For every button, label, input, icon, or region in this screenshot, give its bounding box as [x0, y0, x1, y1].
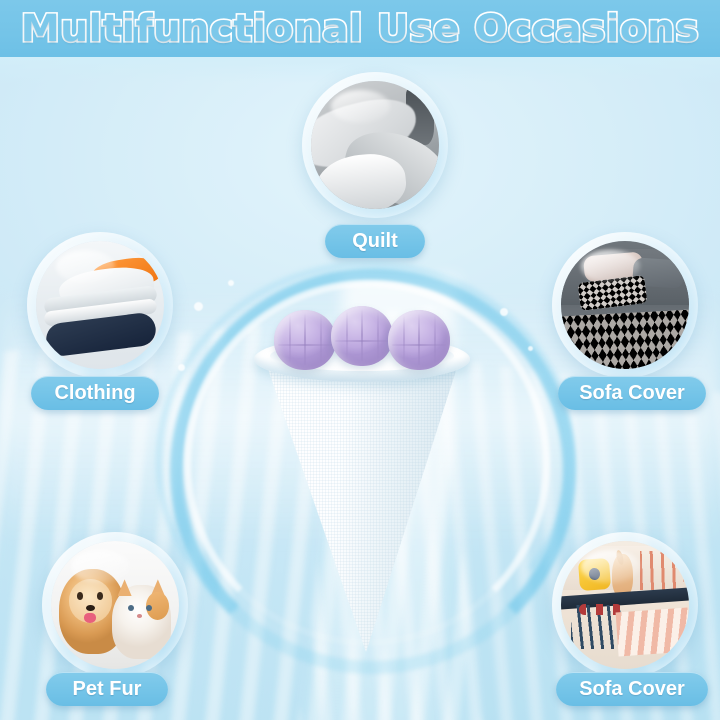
header-banner: Multifunctional Use Occasions: [0, 0, 720, 57]
laundry-ball-rib: [403, 315, 405, 363]
occasion-bubble-pet-fur[interactable]: [42, 532, 188, 678]
occasion-label-sofa-cover-bottom[interactable]: Sofa Cover: [556, 672, 708, 706]
clothing-scene: [36, 241, 164, 369]
page-title: Multifunctional Use Occasions: [21, 7, 699, 50]
occasion-bubble-clothing[interactable]: [27, 232, 173, 378]
occasion-label-pet-fur[interactable]: Pet Fur: [46, 672, 168, 706]
occasion-bubble-quilt[interactable]: [302, 72, 448, 218]
water-droplet: [228, 280, 234, 286]
sofa-stripe-pattern: [616, 608, 689, 656]
pet-scene: [51, 541, 179, 669]
dog-nose: [86, 605, 95, 611]
dog-tongue: [84, 613, 96, 623]
laundry-ball: [274, 310, 336, 370]
water-droplet: [500, 308, 508, 316]
occasion-bubble-sofa-cover-bottom[interactable]: [552, 532, 698, 678]
sofa-colorful-scene: [561, 541, 689, 669]
laundry-ball-rib: [434, 315, 436, 363]
laundry-ball-rib: [346, 311, 348, 359]
occasion-label-clothing[interactable]: Clothing: [31, 376, 159, 410]
dog-eye: [77, 592, 83, 600]
water-droplet: [194, 302, 203, 311]
laundry-ball: [331, 306, 393, 366]
occasion-label-quilt[interactable]: Quilt: [325, 224, 425, 258]
occasion-photo-clothing: [36, 241, 164, 369]
laundry-ball-rib: [377, 311, 379, 359]
occasion-bubble-sofa-cover-top[interactable]: [552, 232, 698, 378]
laundry-ball: [388, 310, 450, 370]
cat-nose: [137, 614, 142, 618]
sofa-patterned-seat: [561, 309, 689, 369]
occasion-label-sofa-cover-top[interactable]: Sofa Cover: [558, 376, 706, 410]
sofa-yellow-pillow: [578, 558, 611, 591]
occasion-photo-quilt: [311, 81, 439, 209]
laundry-ball-rib: [320, 315, 322, 363]
laundry-ball-rib: [289, 315, 291, 363]
filter-cone-shading: [262, 352, 462, 652]
water-droplet: [178, 364, 185, 371]
quilt-scene: [311, 81, 439, 209]
occasion-photo-sofa-cover-bottom: [561, 541, 689, 669]
product-illustration: [252, 300, 472, 660]
sofa-patterned-pillow: [577, 275, 646, 311]
occasion-photo-pet-fur: [51, 541, 179, 669]
water-droplet: [528, 346, 533, 351]
infographic-page: Multifunctional Use Occasions: [0, 0, 720, 720]
occasion-photo-sofa-cover-top: [561, 241, 689, 369]
sofa-grey-scene: [561, 241, 689, 369]
sofa-leaf-pattern: [640, 551, 684, 589]
